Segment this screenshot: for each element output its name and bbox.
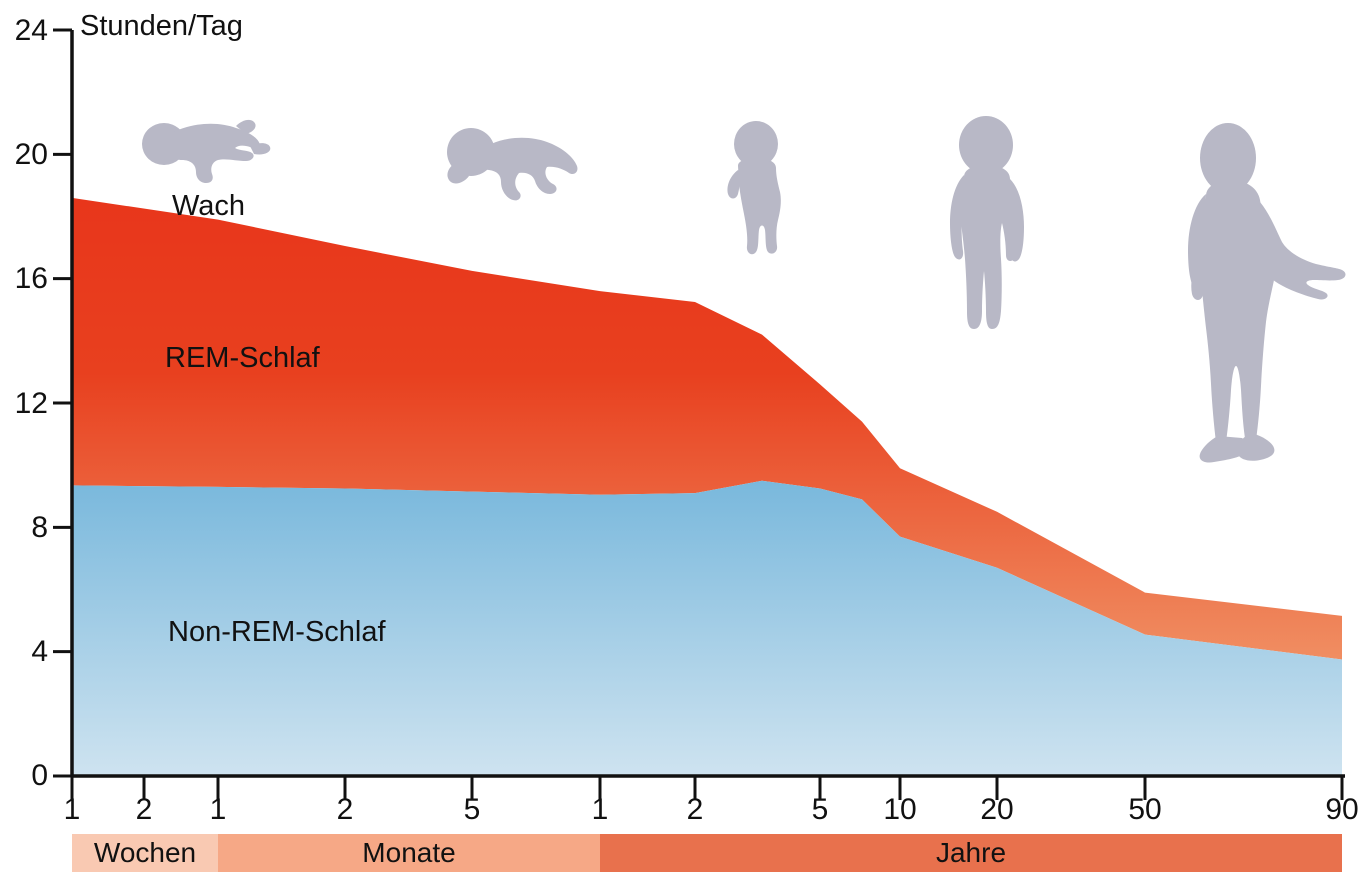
chart-plot-area — [0, 0, 1358, 888]
toddler-standing-figure — [727, 121, 780, 254]
x-tick-label-5-jahre: 5 — [790, 795, 850, 825]
x-tick-label-2-jahre: 2 — [665, 795, 725, 825]
adult-standing-figure — [1188, 123, 1345, 463]
x-tick-label-1-monat: 1 — [188, 795, 248, 825]
x-tick-label-1-woche: 1 — [42, 795, 102, 825]
y-tick-label-8: 8 — [0, 513, 48, 543]
label-non-rem-schlaf: Non-REM-Schlaf — [168, 616, 386, 649]
x-tick-label-50-jahre: 50 — [1115, 795, 1175, 825]
y-tick-label-4: 4 — [0, 637, 48, 667]
y-axis-ticks — [53, 30, 72, 776]
x-tick-label-5-monate: 5 — [442, 795, 502, 825]
label-rem-schlaf: REM-Schlaf — [165, 342, 320, 375]
y-tick-label-0: 0 — [0, 761, 48, 791]
x-tick-label-10-jahre: 10 — [870, 795, 930, 825]
x-tick-label-90-jahre: 90 — [1312, 795, 1358, 825]
label-wach: Wach — [172, 190, 245, 223]
sleep-architecture-chart: Stunden/Tag — [0, 0, 1358, 888]
y-tick-label-20: 20 — [0, 140, 48, 170]
y-tick-label-24: 24 — [0, 16, 48, 46]
x-tick-label-1-jahr: 1 — [570, 795, 630, 825]
age-band-wochen: Wochen — [72, 834, 218, 872]
age-band-monate: Monate — [218, 834, 600, 872]
x-tick-label-2-wochen: 2 — [114, 795, 174, 825]
y-tick-label-16: 16 — [0, 264, 48, 294]
x-tick-label-20-jahre: 20 — [967, 795, 1027, 825]
infant-crawling-figure — [447, 128, 577, 200]
age-band-jahre: Jahre — [600, 834, 1342, 872]
newborn-lying-figure — [142, 120, 270, 183]
y-tick-label-12: 12 — [0, 389, 48, 419]
x-tick-label-2-monate: 2 — [315, 795, 375, 825]
child-standing-figure — [950, 116, 1024, 329]
